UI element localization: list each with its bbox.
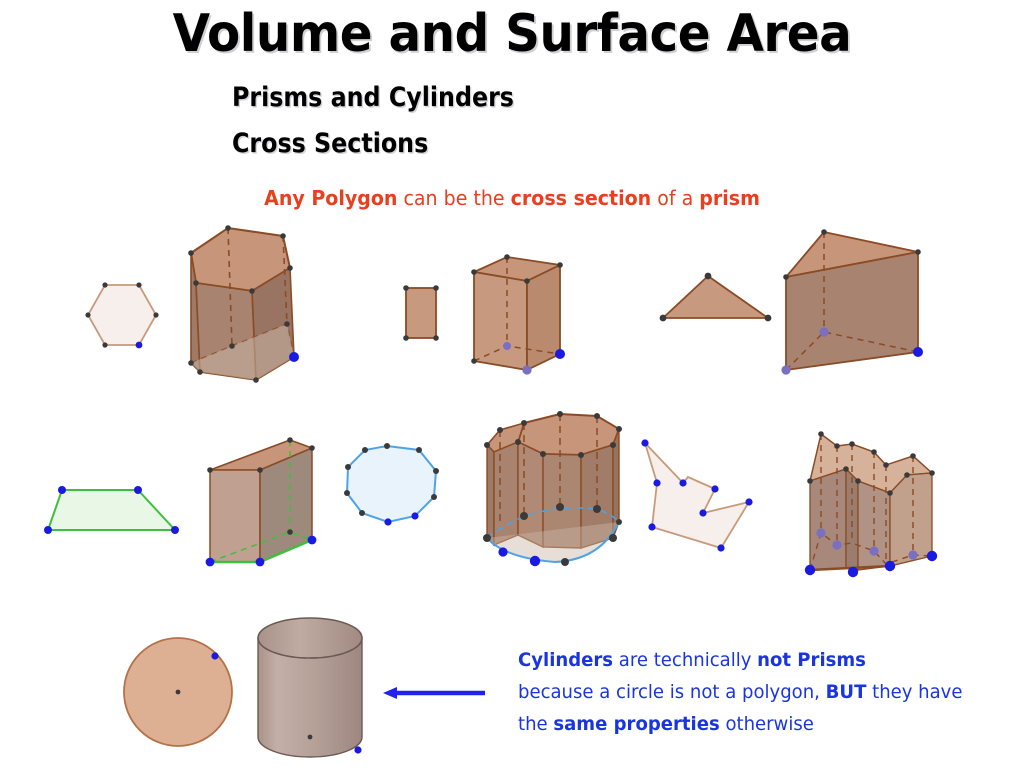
figure-hexagon[interactable] [85,282,158,348]
figure-concave-polygon[interactable] [641,439,752,551]
figure-concave-prism[interactable] [805,431,937,577]
figure-trapezoidal-prism[interactable] [206,437,317,566]
figure-cylinder[interactable] [258,618,362,757]
left-arrow-icon [383,687,485,699]
figure-circle[interactable] [124,638,232,746]
figure-triangle[interactable] [660,273,772,322]
figure-rectangular-prism[interactable] [471,254,565,374]
figure-rectangle[interactable] [403,285,439,341]
figure-trapezoid[interactable] [44,486,179,534]
geometry-layer [0,0,1024,768]
slide-canvas: Volume and Surface Area Prisms and Cylin… [0,0,1024,768]
figure-hexagonal-prism[interactable] [188,225,299,383]
figure-decagonal-prism[interactable] [483,411,622,566]
figure-decagon[interactable] [344,443,439,526]
figure-triangular-prism[interactable] [781,229,923,374]
